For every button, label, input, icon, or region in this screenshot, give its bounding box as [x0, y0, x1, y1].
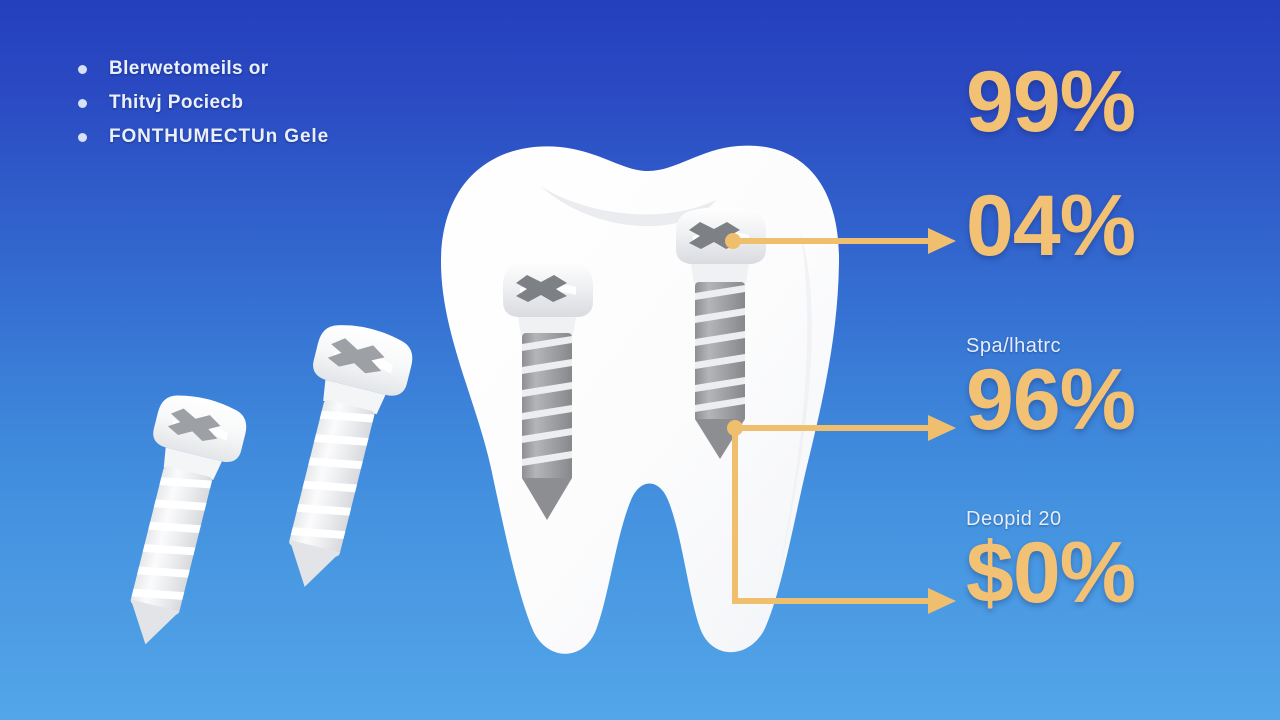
arrowhead-2	[928, 415, 956, 441]
bullet-list: Blerwetomeils or Thitvj Pociecb FONTHUME…	[78, 52, 478, 154]
bullet-item: Blerwetomeils or	[78, 52, 478, 86]
leader-arrowheads	[928, 228, 956, 614]
stat-block: 99%	[966, 62, 1135, 143]
bullet-dot-icon	[78, 133, 87, 142]
stat-block: 04%	[966, 186, 1135, 267]
origin-dot-1	[725, 233, 741, 249]
bullet-label: Blerwetomeils or	[109, 58, 269, 80]
bullet-label: Thitvj Pociecb	[109, 92, 243, 114]
bullet-dot-icon	[78, 99, 87, 108]
bullet-label: FONTHUMECTUn Gele	[109, 126, 329, 148]
bullet-dot-icon	[78, 65, 87, 74]
arrowhead-1	[928, 228, 956, 254]
stat-value: 04%	[966, 186, 1135, 267]
infographic-canvas: Blerwetomeils or Thitvj Pociecb FONTHUME…	[0, 0, 1280, 720]
stat-value: 96%	[966, 360, 1135, 441]
stat-block: Deopid 20 $0%	[966, 508, 1135, 614]
origin-dot-2	[727, 420, 743, 436]
implant-screw-left-small	[103, 388, 252, 655]
bullet-item: FONTHUMECTUn Gele	[78, 120, 478, 154]
stat-value: 99%	[966, 62, 1135, 143]
implant-screw-left-large	[260, 317, 418, 599]
tooth-graphic	[441, 146, 839, 654]
stat-value: $0%	[966, 533, 1135, 614]
stat-block: Spa/lhatrc 96%	[966, 335, 1135, 441]
arrowhead-3	[928, 588, 956, 614]
bullet-item: Thitvj Pociecb	[78, 86, 478, 120]
